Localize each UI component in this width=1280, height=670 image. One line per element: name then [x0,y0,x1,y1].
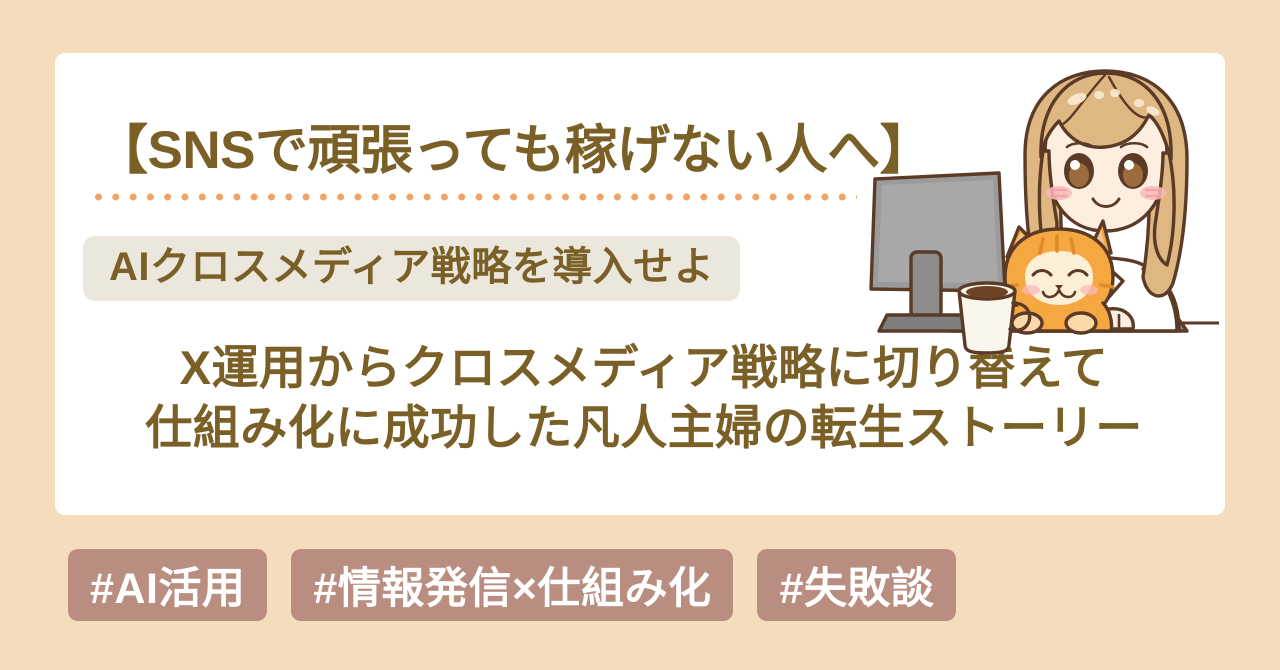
hashtag-row: #AI活用 #情報発信×仕組み化 #失敗談 [68,549,956,621]
woman-at-desk-with-cat-illustration [847,59,1219,359]
page-title: 【SNSで頑張っても稼げない人へ】 [95,123,915,179]
hashtag-badge-1[interactable]: #情報発信×仕組み化 [291,549,733,621]
dotted-divider [95,193,857,201]
hashtag-badge-0[interactable]: #AI活用 [68,549,267,621]
content-card: 【SNSで頑張っても稼げない人へ】 AIクロスメディア戦略を導入せよ X運用から… [55,53,1225,515]
subtitle-badge: AIクロスメディア戦略を導入せよ [83,236,740,301]
subtitle-text: AIクロスメディア戦略を導入せよ [109,245,714,289]
headline-block: 【SNSで頑張っても稼げない人へ】 [95,123,915,201]
banner-root: 【SNSで頑張っても稼げない人へ】 AIクロスメディア戦略を導入せよ X運用から… [0,0,1280,670]
hashtag-badge-2[interactable]: #失敗談 [757,549,956,621]
body-line-2: 仕組み化に成功した凡人主婦の転生ストーリー [79,398,1209,458]
